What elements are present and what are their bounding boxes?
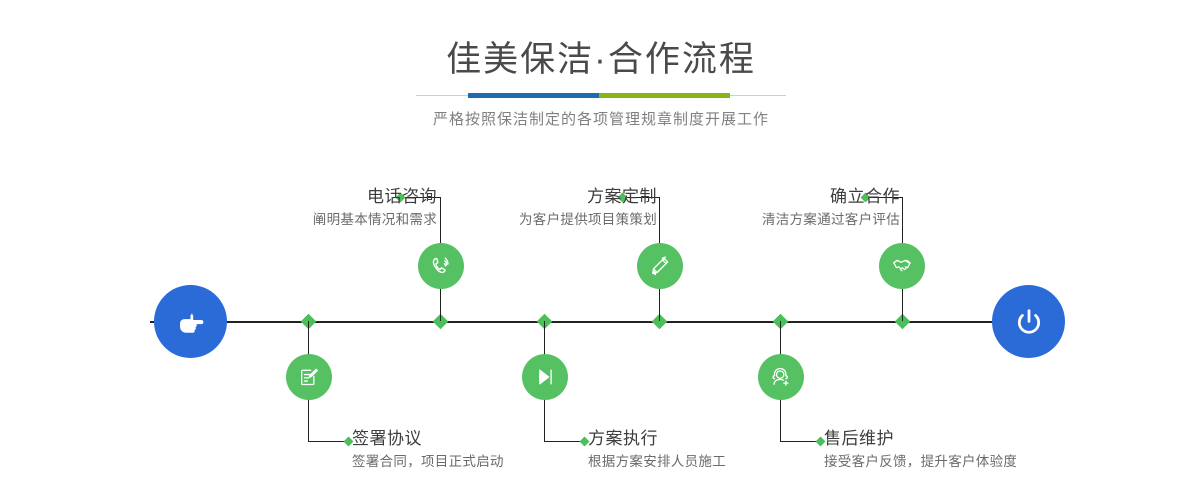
step-desc-2: 签署合同，项目正式启动 xyxy=(352,452,504,472)
connector-elbow-4 xyxy=(544,441,584,442)
step-node-3 xyxy=(637,243,683,289)
pencil-design-icon xyxy=(647,253,673,279)
step-desc-3: 为客户提供项目策策划 xyxy=(519,210,657,230)
step-desc-6: 清洁方案通过客户评估 xyxy=(762,210,900,230)
customer-service-icon xyxy=(768,364,794,390)
process-timeline: 电话咨询 阐明基本情况和需求 签署协议 签署合同，项目正式启动 xyxy=(0,0,1202,502)
step-label-6: 确立合作 清洁方案通过客户评估 xyxy=(762,186,900,230)
power-icon xyxy=(1009,302,1049,342)
step-title-3: 方案定制 xyxy=(519,186,657,208)
step-title-6: 确立合作 xyxy=(762,186,900,208)
step-title-5: 售后维护 xyxy=(824,428,1017,450)
step-title-1: 电话咨询 xyxy=(313,186,437,208)
step-title-2: 签署协议 xyxy=(352,428,504,450)
cooperation-process-infographic: 佳美保洁·合作流程 严格按照保洁制定的各项管理规章制度开展工作 xyxy=(0,0,1202,502)
sign-document-icon xyxy=(296,364,322,390)
pointing-hand-icon xyxy=(171,302,211,342)
step-node-6 xyxy=(879,243,925,289)
step-desc-5: 接受客户反馈，提升客户体验度 xyxy=(824,452,1017,472)
step-label-3: 方案定制 为客户提供项目策策划 xyxy=(519,186,657,230)
step-label-1: 电话咨询 阐明基本情况和需求 xyxy=(313,186,437,230)
step-label-2: 签署协议 签署合同，项目正式启动 xyxy=(352,428,504,472)
phone-call-icon xyxy=(428,253,454,279)
step-desc-4: 根据方案安排人员施工 xyxy=(588,452,726,472)
step-node-1 xyxy=(418,243,464,289)
connector-elbow-2 xyxy=(308,441,348,442)
step-node-2 xyxy=(286,354,332,400)
step-node-5 xyxy=(758,354,804,400)
timeline-end-node xyxy=(992,285,1065,358)
timeline-axis xyxy=(150,321,1052,323)
timeline-start-node xyxy=(154,285,227,358)
step-title-4: 方案执行 xyxy=(588,428,726,450)
handshake-icon xyxy=(889,253,915,279)
step-node-4 xyxy=(522,354,568,400)
step-desc-1: 阐明基本情况和需求 xyxy=(313,210,437,230)
play-execute-icon xyxy=(532,364,558,390)
step-label-5: 售后维护 接受客户反馈，提升客户体验度 xyxy=(824,428,1017,472)
step-label-4: 方案执行 根据方案安排人员施工 xyxy=(588,428,726,472)
connector-elbow-5 xyxy=(780,441,820,442)
